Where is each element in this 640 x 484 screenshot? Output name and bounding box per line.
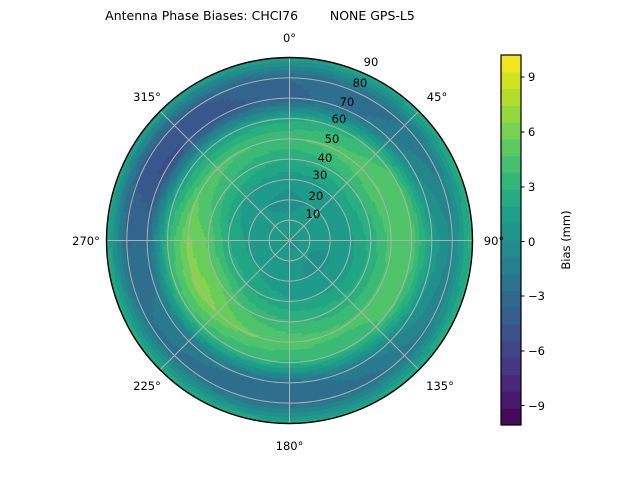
theta-tick-label-0: 0°: [283, 31, 296, 45]
colorbar-tick-label-4: −3: [528, 289, 545, 303]
colorbar-tick-label-3: 0: [528, 235, 535, 249]
theta-tick-label-6: 270°: [72, 234, 100, 248]
r-tick-label-1: 20: [309, 189, 324, 203]
colorbar-axis-label: Bias (mm): [559, 210, 573, 269]
colorbar-tick-label-5: −6: [528, 344, 545, 358]
colorbar-tick-label-0: 9: [528, 70, 535, 84]
theta-tick-label-4: 180°: [276, 439, 304, 453]
colorbar-tick-label-1: 6: [528, 125, 535, 139]
r-tick-label-5: 60: [332, 112, 347, 126]
figure-canvas: Antenna Phase Biases: CHCI76 NONE GPS-L5…: [0, 0, 640, 480]
colorbar-tick-label-2: 3: [528, 180, 535, 194]
theta-tick-label-1: 45°: [427, 90, 447, 104]
r-tick-label-2: 30: [313, 168, 328, 182]
colorbar-tick-label-6: −9: [528, 399, 545, 413]
theta-tick-label-5: 225°: [133, 379, 161, 393]
r-tick-label-3: 40: [318, 151, 333, 165]
r-tick-label-6: 70: [340, 95, 355, 109]
r-tick-label-4: 50: [325, 132, 340, 146]
r-tick-label-8: 90: [364, 55, 379, 69]
r-tick-label-7: 80: [353, 76, 368, 90]
r-tick-label-0: 10: [306, 207, 321, 221]
theta-tick-label-2: 90°: [484, 234, 504, 248]
theta-tick-label-7: 315°: [133, 90, 161, 104]
theta-tick-label-3: 135°: [426, 379, 454, 393]
